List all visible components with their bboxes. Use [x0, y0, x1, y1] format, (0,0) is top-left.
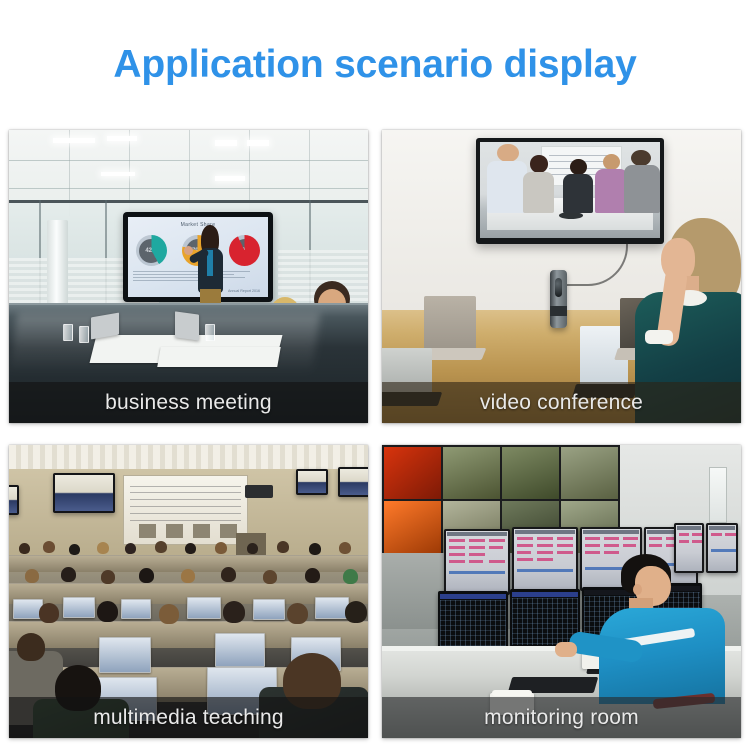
- operator: [599, 554, 725, 704]
- student-laptop-2: [215, 633, 265, 667]
- photo-monitoring-room: [382, 445, 741, 738]
- donut-chart-1: 42%: [136, 235, 167, 266]
- scada-monitor-2: [512, 527, 578, 593]
- ceiling-lights: [9, 445, 368, 471]
- scenario-grid: Market Share 42% 79%: [9, 130, 741, 738]
- laptop-center: [175, 311, 199, 340]
- overhead-monitor-right-1: [296, 469, 328, 495]
- overhead-monitor-far-left: [9, 485, 19, 515]
- conference-camera[interactable]: [550, 270, 567, 328]
- photo-video-conference: [382, 130, 741, 423]
- slide-footer: Annual Report 2016: [228, 289, 260, 293]
- projection-screen: [123, 475, 248, 545]
- scada-monitor-1: [444, 529, 510, 595]
- donut-chart-3: 93%: [229, 235, 260, 266]
- ceiling-projector: [245, 485, 273, 498]
- schematic-monitor-1: [438, 591, 508, 649]
- overhead-monitor-right-2: [338, 467, 368, 497]
- remote-participant-1: [487, 144, 527, 213]
- remote-participant-4: [595, 154, 627, 214]
- water-glass-1: [63, 324, 73, 341]
- water-glass-2: [79, 326, 89, 343]
- caption-business-meeting: business meeting: [9, 382, 368, 423]
- caption-video-conference: video conference: [382, 382, 741, 423]
- scenario-card-monitoring-room[interactable]: monitoring room: [382, 445, 741, 738]
- photo-business-meeting: Market Share 42% 79%: [9, 130, 368, 423]
- page-title: Application scenario display: [0, 44, 750, 86]
- scenario-card-business-meeting[interactable]: Market Share 42% 79%: [9, 130, 368, 423]
- remote-participant-5: [624, 150, 660, 213]
- scenario-card-video-conference[interactable]: video conference: [382, 130, 741, 423]
- caption-multimedia-teaching: multimedia teaching: [9, 697, 368, 738]
- window: [709, 467, 727, 523]
- application-scenario-page: Application scenario display: [0, 0, 750, 750]
- student-laptop-1: [99, 637, 151, 673]
- scenario-card-multimedia-teaching[interactable]: multimedia teaching: [9, 445, 368, 738]
- remote-participant-2: [523, 155, 554, 213]
- speakerphone-icon: [559, 212, 582, 219]
- caption-monitoring-room: monitoring room: [382, 697, 741, 738]
- water-glass-3: [205, 324, 215, 341]
- overhead-monitor-left: [53, 473, 115, 513]
- photo-multimedia-teaching: [9, 445, 368, 738]
- remote-participant-3: [563, 159, 594, 213]
